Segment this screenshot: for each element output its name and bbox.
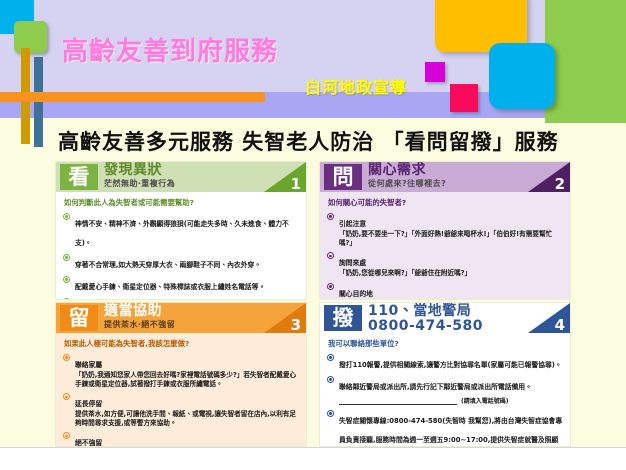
card-number-corner: 1 <box>264 162 306 192</box>
list-item-text: 關心目的地 <box>339 290 373 298</box>
card-phone: 0800-474-580 <box>368 319 483 333</box>
card-question: 如果此人極可能為失智者,我該怎麼做? <box>64 338 299 349</box>
decoration-orange-bar <box>0 92 265 102</box>
card-subtitle: 茫然無助‧重複行為 <box>104 178 175 189</box>
card-bo: 撥 110、當地警局 0800-474-580 4 我可以聯絡那些單位? 撥打1… <box>320 303 570 446</box>
list-item-text: 撥打110報警,提供相關線索,讓警方比對協尋名單(家屬可能已報警協尋)。 <box>339 361 562 369</box>
card-kan: 看 發現異狀 茫然無助‧重複行為 1 如何判斷此人為失智者或可能需要幫助? 神情… <box>56 162 306 299</box>
list-item: 引起注意 「奶奶,要不要坐一下?」「外面好熱!爺爺來喝杯水!」「伯伯好!有需要幫… <box>327 211 563 247</box>
card-title: 適當協助 <box>104 304 175 319</box>
write-in-rule[interactable] <box>339 396 457 405</box>
card-title: 110、當地警局 <box>368 304 483 319</box>
bullet-icon <box>327 354 334 361</box>
list-item-text: 失智症關懷專線:0800-474-580(失智時 我幫您),將由台灣失智症協會專… <box>339 417 562 446</box>
card-header-text: 關心需求 從何處來?往哪裡去? <box>368 163 446 189</box>
list-item: 失智症關懷專線:0800-474-580(失智時 我幫您),將由台灣失智症協會專… <box>327 408 563 446</box>
card-number-corner: 3 <box>264 303 306 333</box>
card-header-text: 110、當地警局 0800-474-580 <box>368 304 483 333</box>
decoration-green-square-topleft <box>14 21 47 53</box>
card-header-text: 適當協助 提供茶水‧絕不強留 <box>104 304 175 330</box>
list-item: 延長停留 提供茶水,如方便,可讓他洗手間、報紙、或電視,讓失智者留在店內,以利有… <box>63 391 299 427</box>
card-header: 撥 110、當地警局 0800-474-580 4 <box>320 303 570 333</box>
decoration-steel-bar <box>34 57 43 118</box>
card-number-corner: 4 <box>528 303 570 333</box>
list-item-text: 神情不安、精神不濟、外觀顯得狼狽(可能走失多時、久未進食、體力不支)。 <box>75 220 289 247</box>
bullet-icon <box>63 432 70 439</box>
bullet-icon <box>327 252 334 259</box>
card-question: 如何判斷此人為失智者或可能需要幫助? <box>64 197 299 208</box>
banner-title: 高齡友善到府服務 <box>62 31 278 68</box>
card-item-list: 引起注意 「奶奶,要不要坐一下?」「外面好熱!爺爺來喝杯水!」「伯伯好!有需要幫… <box>327 211 563 299</box>
list-item: 關心目的地 「奶奶,您要去哪裡啊?您打算怎麼去呢?」「您一個人嗎?有人陪您嗎?」 <box>327 281 563 299</box>
card-item-list: 撥打110報警,提供相關線索,讓警方比對協尋名單(家屬可能已報警協尋)。 聯絡鄰… <box>327 352 563 446</box>
list-item-text: 絕不強留 <box>75 439 102 446</box>
list-item-detail: 「奶奶,您從哪兒來啊?」「爺爺住在附近嗎?」 <box>339 269 563 278</box>
list-item: 詢問來處 「奶奶,您從哪兒來啊?」「爺爺住在附近嗎?」 <box>327 250 563 278</box>
slide-canvas: 高齡友善到府服務 白河地政宣導 高齡友善多元服務 失智老人防治 「看問留撥」服務… <box>0 0 626 470</box>
page-title: 高齡友善多元服務 失智老人防治 「看問留撥」服務 <box>58 126 603 156</box>
list-item-text: 配戴愛心手鍊、衛星定位器、特殊標誌或衣服上繡姓名電話等。 <box>75 283 265 291</box>
card-number: 4 <box>555 318 565 333</box>
card-header: 問 關心需求 從何處來?往哪裡去? 2 <box>320 162 570 192</box>
card-number: 2 <box>555 177 565 192</box>
list-item: 配戴愛心手鍊、衛星定位器、特殊標誌或衣服上繡姓名電話等。 <box>63 274 299 293</box>
list-item-text: 穿著不合常理,如大熱天穿厚大衣、兩腳鞋子不同、內衣外穿。 <box>75 261 261 269</box>
list-item-text: 聯絡家屬 <box>75 361 102 369</box>
bullet-icon <box>63 298 70 299</box>
bullet-icon <box>327 410 334 417</box>
bullet-icon <box>63 393 70 400</box>
card-header: 留 適當協助 提供茶水‧絕不強留 3 <box>56 303 306 333</box>
card-question: 我可以聯絡那些單位? <box>328 338 563 349</box>
card-wen: 問 關心需求 從何處來?往哪裡去? 2 如何關心可能的失智者? 引起注意 「奶奶… <box>320 162 570 299</box>
card-liu: 留 適當協助 提供茶水‧絕不強留 3 如果此人極可能為失智者,我該怎麼做? 聯絡… <box>56 303 306 446</box>
list-item-detail: 「奶奶,要不要坐一下?」「外面好熱!爺爺來喝杯水!」「伯伯好!有需要幫忙嗎?」 <box>339 230 563 247</box>
bullet-icon <box>63 213 70 220</box>
list-item: 聯絡家屬 「奶奶,我通知您家人帶您回去好嗎?家裡電話號碼多少?」若失智者配戴愛心… <box>63 352 299 388</box>
card-body: 如果此人極可能為失智者,我該怎麼做? 聯絡家屬 「奶奶,我通知您家人帶您回去好嗎… <box>56 333 306 446</box>
list-item: 聯絡鄰近警局或派出所,請先行記下鄰近警局或派出所電話備用。 <box>327 374 563 393</box>
banner: 高齡友善到府服務 白河地政宣導 <box>0 0 626 118</box>
bullet-icon <box>63 354 70 361</box>
list-item-detail: 「奶奶,我通知您家人帶您回去好嗎?家裡電話號碼多少?」若失智者配戴愛心手鍊或衛星… <box>75 371 299 388</box>
accent-green-edge <box>545 118 626 123</box>
list-item-text: 聯絡鄰近警局或派出所,請先行記下鄰近警局或派出所電話備用。 <box>339 383 532 391</box>
list-item: 撥打110報警,提供相關線索,讓警方比對協尋名單(家屬可能已報警協尋)。 <box>327 352 563 371</box>
card-header: 看 發現異狀 茫然無助‧重複行為 1 <box>56 162 306 192</box>
decoration-cyan-rounded-block <box>489 43 555 109</box>
card-glyph-liu: 留 <box>60 305 98 331</box>
card-body: 如何判斷此人為失智者或可能需要幫助? 神情不安、精神不濟、外觀顯得狼狽(可能走失… <box>56 192 306 299</box>
card-body: 我可以聯絡那些單位? 撥打110報警,提供相關線索,讓警方比對協尋名單(家屬可能… <box>320 333 570 446</box>
card-body: 如何關心可能的失智者? 引起注意 「奶奶,要不要坐一下?」「外面好熱!爺爺來喝杯… <box>320 192 570 299</box>
card-number: 3 <box>291 318 301 333</box>
card-header-text: 發現異狀 茫然無助‧重複行為 <box>104 163 175 189</box>
card-grid: 看 發現異狀 茫然無助‧重複行為 1 如何判斷此人為失智者或可能需要幫助? 神情… <box>56 162 570 446</box>
phone-fill-line[interactable]: (請填入電話號碼) <box>339 396 563 405</box>
card-subtitle: 提供茶水‧絕不強留 <box>104 319 175 330</box>
list-item: 穿著不合常理,如大熱天穿厚大衣、兩腳鞋子不同、內衣外穿。 <box>63 252 299 271</box>
accent-gold-bar <box>21 118 30 144</box>
bullet-icon <box>63 276 70 283</box>
card-title: 關心需求 <box>368 163 446 178</box>
card-item-list: 神情不安、精神不濟、外觀顯得狼狽(可能走失多時、久未進食、體力不支)。 穿著不合… <box>63 211 299 299</box>
card-subtitle: 從何處來?往哪裡去? <box>368 178 446 189</box>
phone-fill-row: (請填入電話號碼) <box>327 396 563 405</box>
list-item-text: 詢問來處 <box>339 259 366 267</box>
card-glyph-bo: 撥 <box>324 305 362 331</box>
decoration-magenta-square <box>425 62 445 82</box>
card-glyph-kan: 看 <box>60 164 98 190</box>
list-item-text: 引起注意 <box>339 220 366 228</box>
list-item: 與一般顧客不同,不知道自己需要什麼,眼神可能空洞。 <box>63 296 299 299</box>
bullet-icon <box>327 283 334 290</box>
decoration-green-panel <box>545 0 626 118</box>
card-title: 發現異狀 <box>104 163 175 178</box>
decoration-gold-bar <box>21 48 30 118</box>
card-item-list: 聯絡家屬 「奶奶,我通知您家人帶您回去好嗎?家裡電話號碼多少?」若失智者配戴愛心… <box>63 352 299 446</box>
card-question: 如何關心可能的失智者? <box>328 197 563 208</box>
bullet-icon <box>327 213 334 220</box>
write-in-caption: (請填入電話號碼) <box>461 396 509 405</box>
card-number-corner: 2 <box>528 162 570 192</box>
list-item-detail: 提供茶水,如方便,可讓他洗手間、報紙、或電視,讓失智者留在店內,以利有足夠時間尋… <box>75 410 299 427</box>
list-item: 絕不強留 努力讓失智者留在店內,若失智者仍堅持離開、表現不安或失去耐性請尊重失智… <box>63 430 299 446</box>
slide-bottom-edge <box>0 447 626 470</box>
banner-subtitle: 白河地政宣導 <box>305 74 407 98</box>
decoration-pink-square <box>450 84 478 112</box>
bullet-icon <box>63 254 70 261</box>
list-item-text: 延長停留 <box>75 400 102 408</box>
card-glyph-wen: 問 <box>324 164 362 190</box>
accent-steel-bar <box>34 118 43 147</box>
bullet-icon <box>327 376 334 383</box>
list-item: 神情不安、精神不濟、外觀顯得狼狽(可能走失多時、久未進食、體力不支)。 <box>63 211 299 249</box>
card-number: 1 <box>291 177 301 192</box>
